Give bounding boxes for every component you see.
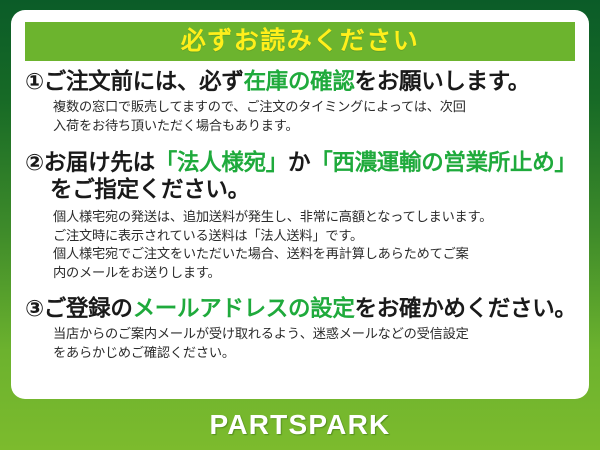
notice-banner: 必ずお読みください ①ご注文前には、必ず在庫の確認をお願いします。 複数の窓口で… [0,0,600,450]
item-1-subline-1: 複数の窓口で販売してますので、ご注文のタイミングによっては、次回 [53,98,579,117]
item-3-highlight: メールアドレスの設定 [133,296,355,321]
item-2-subline-4: 内のメールをお送りします。 [53,264,579,283]
item-3-heading: ③ご登録のメールアドレスの設定をお確かめください。 [25,295,579,322]
banner-title: 必ずお読みください [181,29,420,54]
item-2-marker: ② [25,150,44,175]
notice-item-list: ①ご注文前には、必ず在庫の確認をお願いします。 複数の窓口で販売してますので、ご… [11,68,589,363]
item-2-head-continuation: をご指定ください。 [25,176,579,203]
item-2-subline-3: 個人様宅宛でご注文をいただいた場合、送料を再計算しあらためてご案 [53,245,579,264]
item-2-subline-2: ご注文時に表示されている送料は「法人送料」です。 [53,227,579,246]
item-3-subtext: 当店からのご案内メールが受け取れるよう、迷惑メールなどの受信設定 をあらかじめご… [25,325,579,362]
item-1-subline-2: 入荷をお待ち頂いただく場合もあります。 [53,117,579,136]
footer-bar: PARTSPARK [0,399,600,450]
item-1-highlight: 在庫の確認 [244,69,355,94]
item-1-marker: ① [25,69,44,94]
item-1-heading: ①ご注文前には、必ず在庫の確認をお願いします。 [25,68,579,95]
item-3-subline-1: 当店からのご案内メールが受け取れるよう、迷惑メールなどの受信設定 [53,325,579,344]
item-2-head-middle: か [288,150,310,175]
item-1-head-before: ご注文前には、必ず [44,69,244,94]
item-1-subtext: 複数の窓口で販売してますので、ご注文のタイミングによっては、次回 入荷をお待ち頂… [25,98,579,135]
title-bar: 必ずお読みください [25,22,575,61]
item-2-subtext: 個人様宅宛の発送は、追加送料が発生し、非常に高額となってしまいます。 ご注文時に… [25,208,579,283]
item-3-head-after: をお確かめください。 [355,296,577,321]
notice-item-1: ①ご注文前には、必ず在庫の確認をお願いします。 複数の窓口で販売してますので、ご… [11,68,589,136]
notice-card: 必ずお読みください ①ご注文前には、必ず在庫の確認をお願いします。 複数の窓口で… [11,10,589,399]
item-2-subline-1: 個人様宅宛の発送は、追加送料が発生し、非常に高額となってしまいます。 [53,208,579,227]
item-2-highlight-1: 「法人様宛」 [155,150,288,175]
item-2-highlight-2: 「西濃運輸の営業所止め」 [310,150,576,175]
item-3-subline-2: をあらかじめご確認ください。 [53,344,579,363]
notice-item-3: ③ご登録のメールアドレスの設定をお確かめください。 当店からのご案内メールが受け… [11,295,589,363]
item-1-head-after: をお願いします。 [355,69,530,94]
item-2-heading: ②お届け先は「法人様宛」か「西濃運輸の営業所止め」をご指定ください。 [25,149,579,204]
notice-item-2: ②お届け先は「法人様宛」か「西濃運輸の営業所止め」をご指定ください。 個人様宅宛… [11,149,589,283]
item-2-head-before: お届け先は [44,150,155,175]
item-3-head-before: ご登録の [44,296,133,321]
partspark-logo: PARTSPARK [210,411,391,439]
item-3-marker: ③ [25,296,44,321]
